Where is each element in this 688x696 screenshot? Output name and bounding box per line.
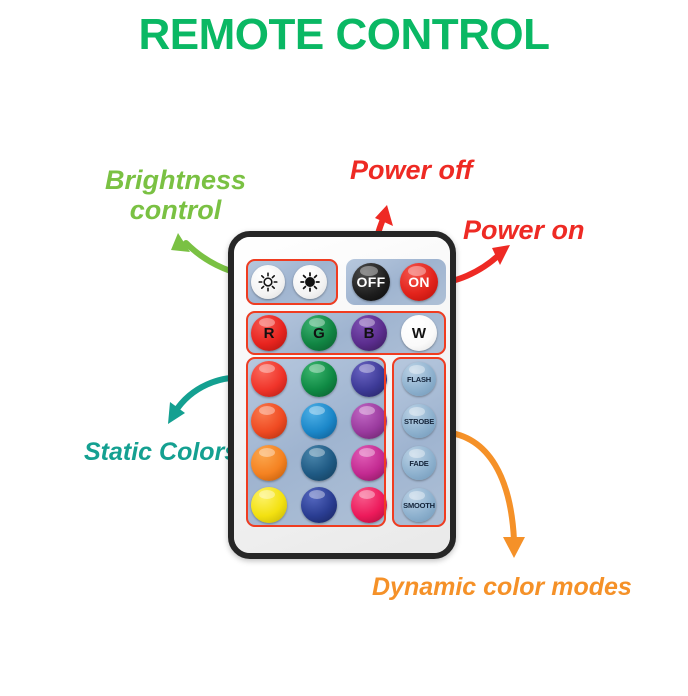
brightness-up-button[interactable] (293, 265, 327, 299)
color-button-w-label: W (412, 325, 426, 342)
color-swatch-orange[interactable] (251, 445, 287, 481)
color-swatch-indigo[interactable] (351, 361, 387, 397)
arrow-dynamic-modes (444, 432, 525, 558)
page-title: REMOTE CONTROL (0, 10, 688, 60)
color-swatch-orange-red[interactable] (251, 403, 287, 439)
color-swatch-navy[interactable] (301, 487, 337, 523)
color-swatch-purple[interactable] (351, 403, 387, 439)
remote-faceplate: OFF ON R G B W (234, 237, 450, 553)
brightness-down-button[interactable] (251, 265, 285, 299)
on-button[interactable]: ON (400, 263, 438, 301)
callout-label-static-colors: Static Colors (84, 438, 238, 466)
off-button[interactable]: OFF (352, 263, 390, 301)
smooth-button[interactable]: SMOOTH (402, 488, 436, 522)
color-button-g[interactable]: G (301, 315, 337, 351)
color-swatch-cyan-blue[interactable] (301, 403, 337, 439)
sun-small-icon (257, 271, 279, 293)
color-button-b[interactable]: B (351, 315, 387, 351)
smooth-button-label: SMOOTH (403, 501, 435, 510)
callout-label-power-on: Power on (463, 215, 585, 245)
color-button-w[interactable]: W (401, 315, 437, 351)
color-swatch-red[interactable] (251, 361, 287, 397)
callout-label-power-off: Power off (350, 155, 473, 185)
callout-label-brightness: Brightness control (88, 165, 263, 225)
color-button-g-label: G (313, 325, 325, 342)
color-button-r-label: R (264, 325, 275, 342)
remote-control-device: OFF ON R G B W (228, 231, 456, 559)
color-swatch-teal-blue[interactable] (301, 445, 337, 481)
color-swatch-green[interactable] (301, 361, 337, 397)
sun-large-icon (299, 271, 321, 293)
strobe-button[interactable]: STROBE (402, 404, 436, 438)
callout-label-dynamic-modes: Dynamic color modes (372, 573, 632, 601)
fade-button-label: FADE (409, 459, 428, 468)
color-swatch-yellow[interactable] (251, 487, 287, 523)
off-button-label: OFF (357, 274, 386, 290)
color-swatch-pink[interactable] (351, 487, 387, 523)
color-button-r[interactable]: R (251, 315, 287, 351)
strobe-button-label: STROBE (404, 417, 434, 426)
flash-button-label: FLASH (407, 375, 431, 384)
color-swatch-magenta[interactable] (351, 445, 387, 481)
flash-button[interactable]: FLASH (402, 362, 436, 396)
color-button-b-label: B (364, 325, 375, 342)
fade-button[interactable]: FADE (402, 446, 436, 480)
on-button-label: ON (408, 274, 430, 290)
